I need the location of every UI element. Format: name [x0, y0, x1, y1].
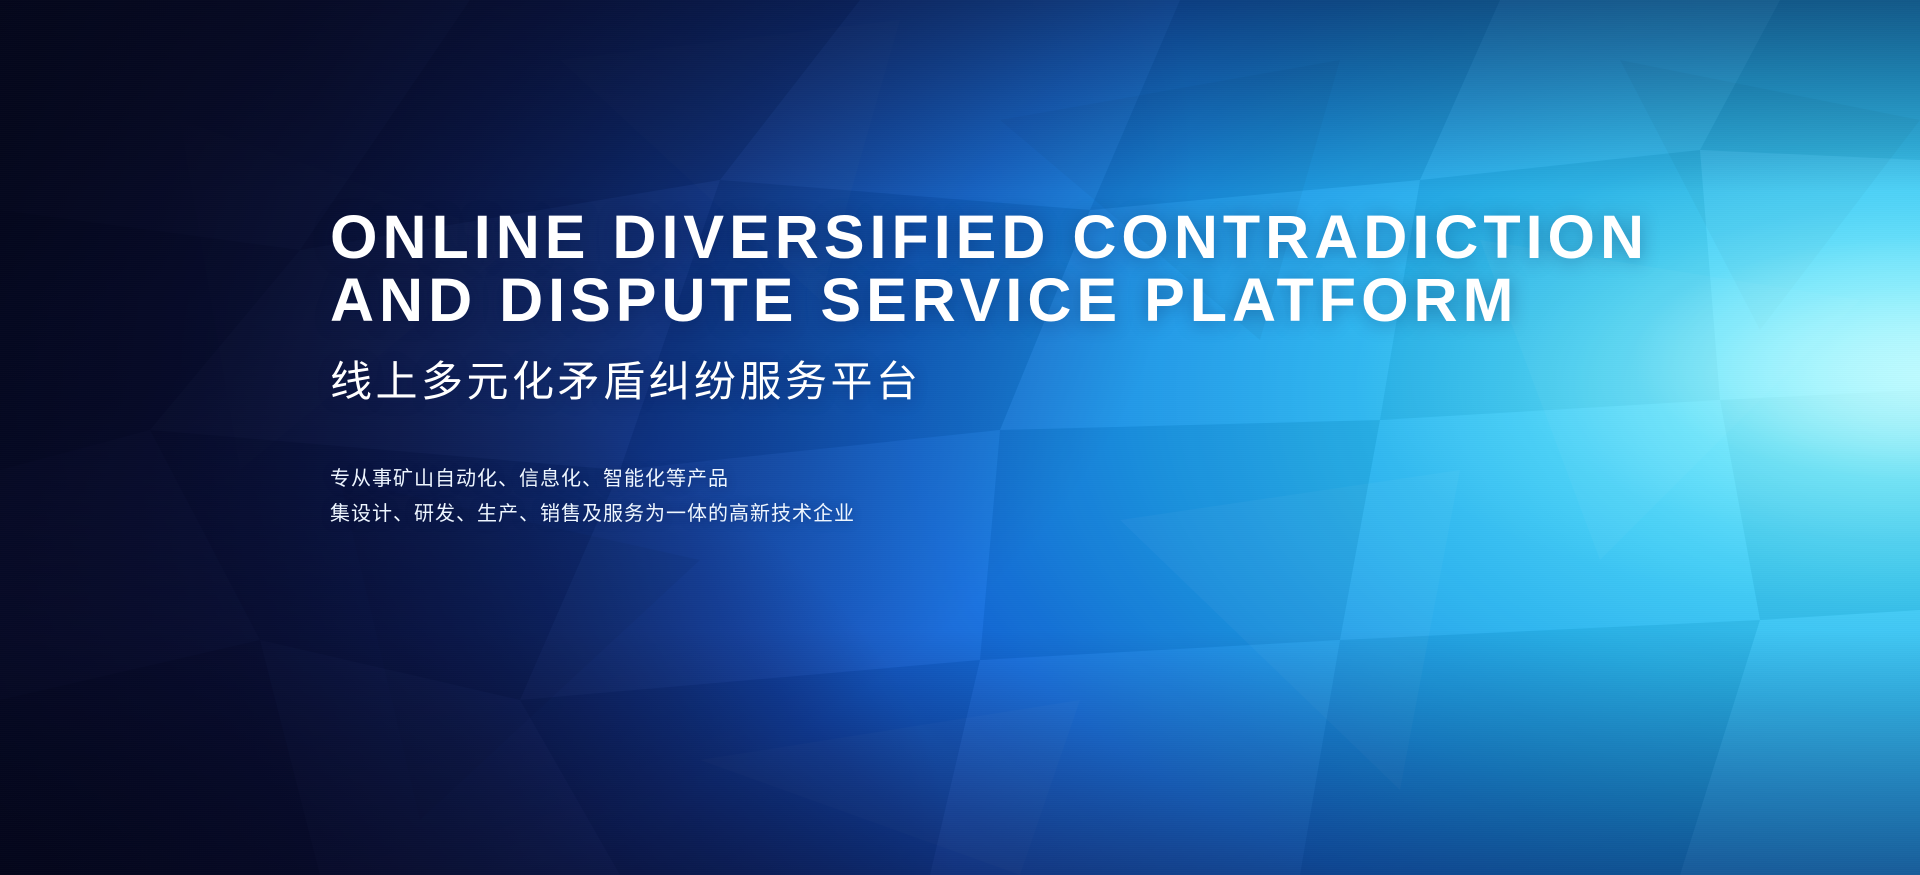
banner-description-line-2: 集设计、研发、生产、销售及服务为一体的高新技术企业 [330, 497, 1710, 532]
banner-content: ONLINE DIVERSIFIED CONTRADICTION AND DIS… [330, 206, 1710, 532]
hero-banner: ONLINE DIVERSIFIED CONTRADICTION AND DIS… [0, 0, 1920, 875]
banner-description-line-1: 专从事矿山自动化、信息化、智能化等产品 [330, 462, 1710, 497]
banner-headline-line-1: ONLINE DIVERSIFIED CONTRADICTION [330, 206, 1710, 269]
banner-subtitle: 线上多元化矛盾纠纷服务平台 [330, 358, 1710, 406]
banner-headline-line-2: AND DISPUTE SERVICE PLATFORM [330, 269, 1710, 332]
banner-description: 专从事矿山自动化、信息化、智能化等产品 集设计、研发、生产、销售及服务为一体的高… [330, 462, 1710, 532]
